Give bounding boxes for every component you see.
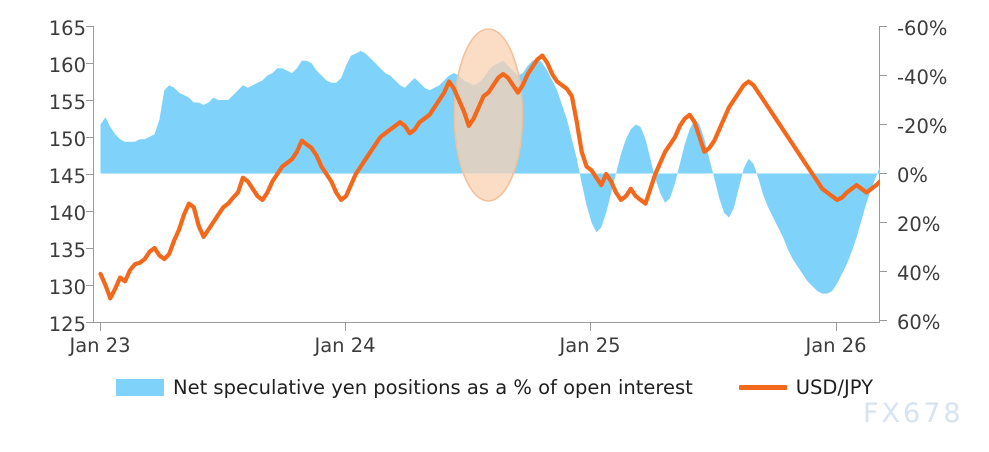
legend-item-net-spec-yen[interactable]: Net speculative yen positions as a % of … xyxy=(116,376,693,399)
line-swatch-icon xyxy=(739,385,787,390)
legend: Net speculative yen positions as a % of … xyxy=(0,376,989,399)
legend-label: Net speculative yen positions as a % of … xyxy=(173,376,693,399)
legend-item-usdjpy[interactable]: USD/JPY xyxy=(739,376,873,399)
legend-label: USD/JPY xyxy=(796,376,873,399)
area-swatch-icon xyxy=(116,379,164,396)
chart-container: 165 160 155 150 145 140 135 130 125 -60%… xyxy=(0,0,989,452)
